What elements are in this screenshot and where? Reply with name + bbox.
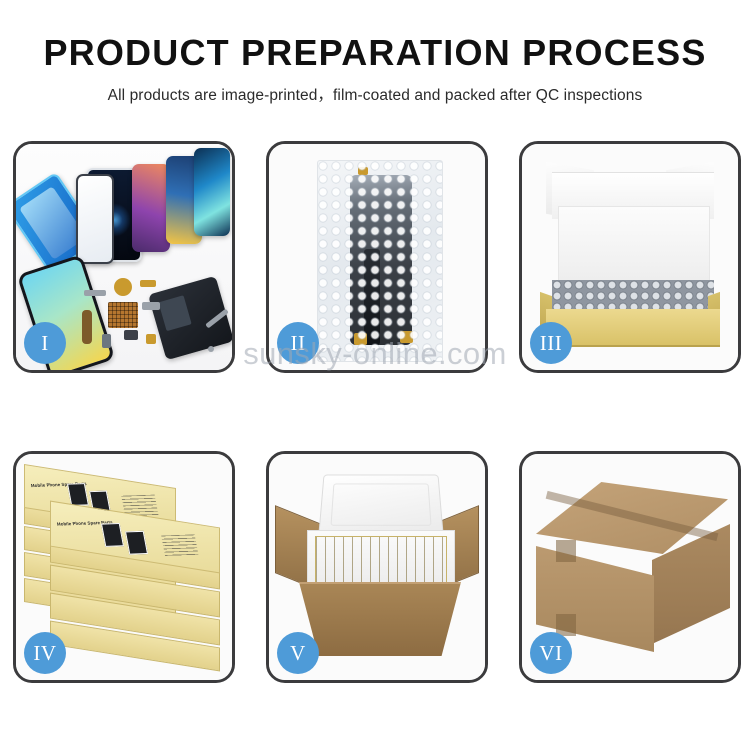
box-feature-list bbox=[161, 534, 199, 557]
box-window-left bbox=[101, 523, 124, 547]
sim-tray-component bbox=[142, 302, 160, 310]
step-badge-4: IV bbox=[24, 632, 66, 674]
connector-grid-component bbox=[108, 302, 138, 328]
bubble-texture bbox=[318, 161, 442, 361]
screw-set-component bbox=[146, 334, 156, 344]
button-component bbox=[102, 334, 111, 348]
speaker-component bbox=[114, 278, 132, 296]
process-step-panel-2[interactable]: II bbox=[266, 141, 488, 373]
bubble-wrap-layer bbox=[552, 280, 714, 312]
bubble-wrap-bag bbox=[317, 160, 443, 362]
camera-module-component bbox=[124, 330, 138, 340]
ribbon-component bbox=[84, 290, 106, 296]
step-badge-5: V bbox=[277, 632, 319, 674]
step-badge-3: III bbox=[530, 322, 572, 364]
carton-body bbox=[299, 582, 461, 656]
step-badge-1: I bbox=[24, 322, 66, 364]
process-step-panel-6[interactable]: VI bbox=[519, 451, 741, 683]
page-header: PRODUCT PREPARATION PROCESS All products… bbox=[0, 0, 750, 105]
process-step-grid: I II III bbox=[13, 141, 741, 683]
step-badge-6: VI bbox=[530, 632, 572, 674]
process-step-panel-3[interactable]: III bbox=[519, 141, 741, 373]
process-step-panel-5[interactable]: V bbox=[266, 451, 488, 683]
gradient-phone-purple bbox=[132, 164, 170, 252]
page-subtitle: All products are image-printed，film-coat… bbox=[0, 83, 750, 105]
step-badge-2: II bbox=[277, 322, 319, 364]
process-step-panel-1[interactable]: I bbox=[13, 141, 235, 373]
front-glass-panel bbox=[76, 174, 114, 264]
foam-sheet bbox=[558, 206, 710, 286]
foam-lid bbox=[318, 475, 444, 537]
gradient-phone-teal bbox=[194, 148, 230, 236]
box-window-left bbox=[67, 483, 89, 506]
box-window-right bbox=[125, 531, 148, 555]
box-front-panel bbox=[546, 309, 720, 347]
process-step-panel-4[interactable]: Mobile Phone Spare Parts Mobile Phone Sp… bbox=[13, 451, 235, 683]
loose-screw bbox=[208, 346, 214, 352]
carton-tape-upper bbox=[556, 540, 576, 562]
flex-cable-component bbox=[82, 310, 92, 344]
page-title: PRODUCT PREPARATION PROCESS bbox=[0, 34, 750, 72]
small-bracket-component bbox=[140, 280, 156, 287]
packed-yellow-boxes bbox=[315, 536, 447, 584]
